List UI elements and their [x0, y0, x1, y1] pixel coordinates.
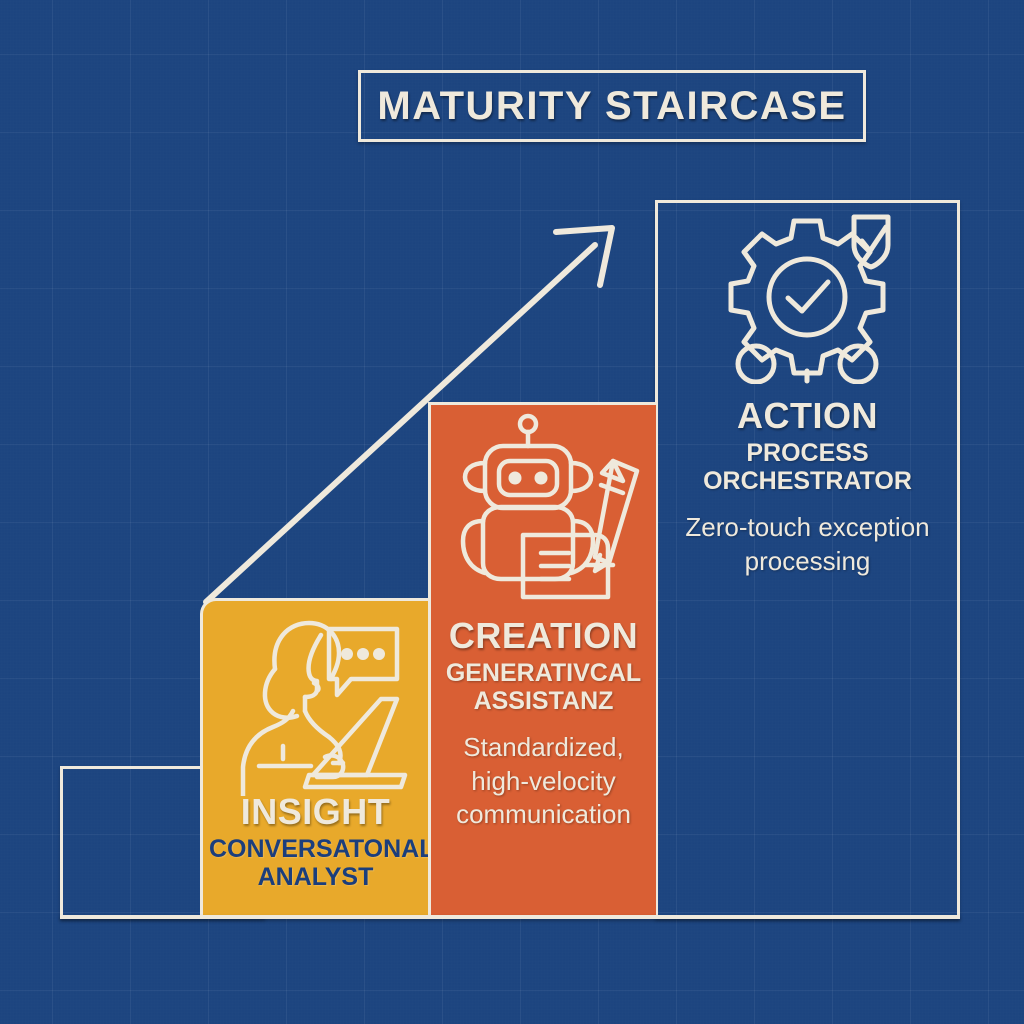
step-creation[interactable]: CREATION GENERATIVCAL ASSISTANZ Standard… — [428, 402, 656, 917]
step-action-title: ACTION — [664, 397, 951, 435]
step-action-role: PROCESS ORCHESTRATOR — [664, 439, 951, 495]
person-laptop-chat-icon — [221, 611, 416, 796]
maturity-staircase-infographic: MATURITY STAIRCASE — [0, 0, 1024, 1024]
step-insight-title: INSIGHT — [209, 793, 422, 831]
step-insight[interactable]: INSIGHT CONVERSATONAL ANALYST — [200, 598, 428, 917]
gear-check-shield-icon — [724, 209, 904, 384]
step-creation-description: Standardized, high-velocity communicatio… — [437, 731, 650, 832]
step-creation-text: CREATION GENERATIVCAL ASSISTANZ Standard… — [431, 617, 656, 832]
step-action[interactable]: ACTION PROCESS ORCHESTRATOR Zero-touch e… — [658, 203, 957, 917]
robot-document-pencil-icon — [445, 413, 655, 603]
step-creation-role: GENERATIVCAL ASSISTANZ — [437, 659, 650, 715]
staircase-baseline — [60, 915, 960, 919]
page-title: MATURITY STAIRCASE — [377, 84, 846, 129]
step-action-text: ACTION PROCESS ORCHESTRATOR Zero-touch e… — [658, 397, 957, 578]
step-insight-text: INSIGHT CONVERSATONAL ANALYST — [203, 793, 428, 891]
step-insight-role: CONVERSATONAL ANALYST — [209, 835, 422, 891]
step-action-description: Zero-touch exception processing — [664, 511, 951, 579]
step-creation-title: CREATION — [437, 617, 650, 655]
title-box: MATURITY STAIRCASE — [358, 70, 866, 142]
